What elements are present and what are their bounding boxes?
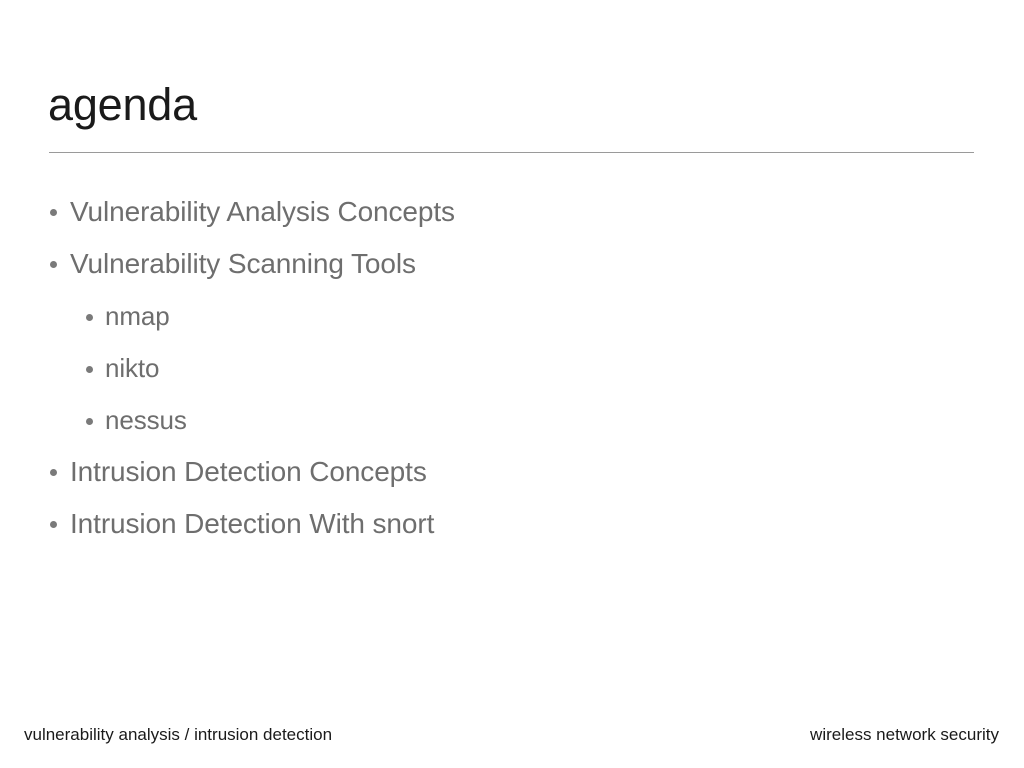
- title-divider: [49, 152, 974, 153]
- bullet-icon: [50, 209, 57, 216]
- footer-right-text: wireless network security: [810, 724, 999, 746]
- list-item: nessus: [0, 394, 1024, 446]
- list-item: Intrusion Detection Concepts: [0, 446, 1024, 498]
- list-item-label: nikto: [105, 352, 159, 384]
- list-item-label: Vulnerability Scanning Tools: [70, 247, 416, 281]
- bullet-icon: [50, 261, 57, 268]
- list-item: Vulnerability Analysis Concepts: [0, 186, 1024, 238]
- list-item: Vulnerability Scanning Tools: [0, 238, 1024, 290]
- bullet-icon: [50, 521, 57, 528]
- list-item: nikto: [0, 342, 1024, 394]
- list-item-label: nmap: [105, 300, 170, 332]
- list-item-label: nessus: [105, 404, 187, 436]
- bullet-icon: [86, 418, 93, 425]
- bullet-icon: [50, 469, 57, 476]
- page-title: agenda: [48, 79, 197, 131]
- list-item-label: Vulnerability Analysis Concepts: [70, 195, 455, 229]
- list-item-label: Intrusion Detection With snort: [70, 507, 434, 541]
- presentation-slide: agenda Vulnerability Analysis Concepts V…: [0, 0, 1024, 768]
- bullet-icon: [86, 366, 93, 373]
- list-item: nmap: [0, 290, 1024, 342]
- list-item-label: Intrusion Detection Concepts: [70, 455, 427, 489]
- list-item: Intrusion Detection With snort: [0, 498, 1024, 550]
- bullet-icon: [86, 314, 93, 321]
- footer-left-text: vulnerability analysis / intrusion detec…: [24, 724, 332, 746]
- agenda-list: Vulnerability Analysis Concepts Vulnerab…: [0, 186, 1024, 550]
